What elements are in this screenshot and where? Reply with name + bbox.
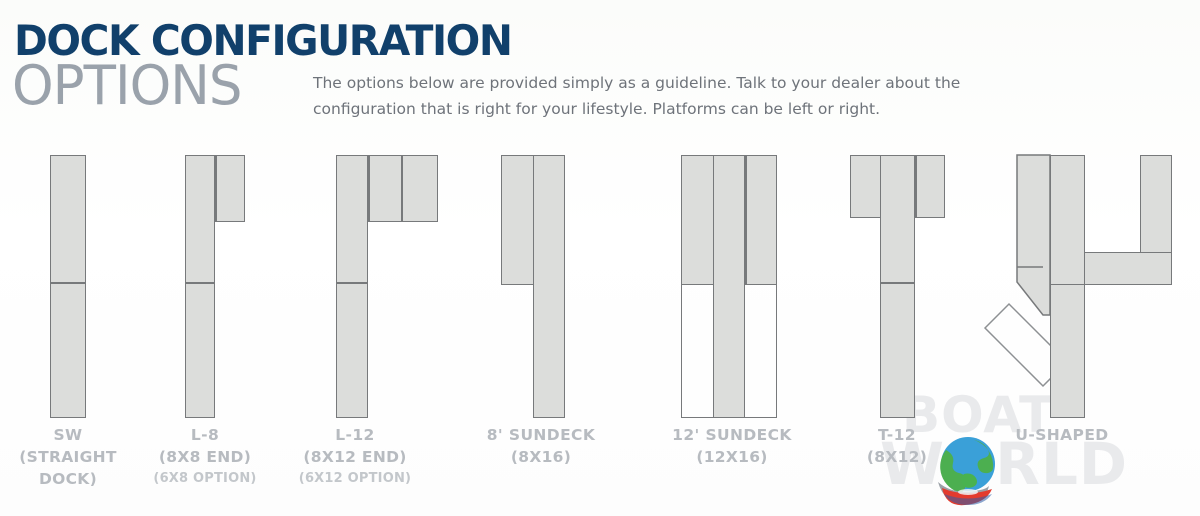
caption-l8-line-2: (8X8 END) — [137, 446, 273, 468]
intro-line-1: The options below are provided simply as… — [313, 70, 973, 96]
caption-sw-line-2: (STRAIGHT — [0, 446, 136, 468]
diagram-t12 — [830, 140, 995, 440]
l12-platform-seam-1 — [368, 155, 370, 222]
caption-l8-line-3: (6X8 OPTION) — [137, 468, 273, 489]
sw-section-seam — [50, 282, 86, 284]
l8-section-seam — [185, 282, 215, 284]
dock-diagrams — [0, 140, 1200, 440]
sundeck12-walkway — [713, 155, 745, 418]
caption-ushaped-line-1: U-SHAPED — [986, 424, 1138, 446]
caption-l12-line-2: (8X12 END) — [287, 446, 423, 468]
caption-t12-line-1: T-12 — [829, 424, 965, 446]
diagram-l12 — [295, 140, 490, 440]
l8-platform-seam — [215, 155, 217, 222]
caption-sundeck8-line-1: 8' SUNDECK — [461, 424, 621, 446]
caption-sw: SW (STRAIGHT DOCK) — [0, 424, 136, 490]
ushaped-left-arm — [1017, 155, 1050, 315]
diagram-sw — [0, 140, 140, 440]
caption-sw-line-3: DOCK) — [0, 468, 136, 490]
l12-platform-seam-2 — [401, 155, 403, 222]
diagram-captions: SW (STRAIGHT DOCK) L-8 (8X8 END) (6X8 OP… — [0, 424, 1200, 516]
caption-t12: T-12 (8X12) — [829, 424, 965, 468]
caption-sw-line-1: SW — [0, 424, 136, 446]
dock-configuration-poster: BOAT WORLD DOCK CONFIGURATION OPTIONS Th… — [0, 0, 1200, 516]
sw-walkway-upper — [50, 155, 86, 418]
page-subtitle: OPTIONS — [12, 54, 241, 117]
ushaped-walkway-upper — [1050, 155, 1085, 285]
caption-sundeck12-line-1: 12' SUNDECK — [650, 424, 814, 446]
caption-sundeck12-line-2: (12X16) — [650, 446, 814, 468]
caption-l8: L-8 (8X8 END) (6X8 OPTION) — [137, 424, 273, 489]
diagram-ushaped — [995, 140, 1200, 440]
diagram-sundeck8 — [490, 140, 650, 440]
t12-crossbar-seam-2 — [915, 155, 917, 218]
l12-walkway — [336, 155, 368, 418]
l8-walkway — [185, 155, 215, 418]
caption-t12-line-2: (8X12) — [829, 446, 965, 468]
intro-line-2: configuration that is right for your lif… — [313, 96, 973, 122]
t12-section-seam — [880, 282, 915, 284]
caption-l12-line-1: L-12 — [287, 424, 423, 446]
diagram-sundeck12 — [650, 140, 830, 440]
diagram-l8 — [140, 140, 295, 440]
l12-section-seam — [336, 282, 368, 284]
intro-paragraph: The options below are provided simply as… — [313, 70, 973, 122]
caption-ushaped: U-SHAPED — [986, 424, 1138, 446]
caption-l8-line-1: L-8 — [137, 424, 273, 446]
t12-walkway — [880, 155, 915, 418]
caption-sundeck8-line-2: (8X16) — [461, 446, 621, 468]
poster-header: DOCK CONFIGURATION OPTIONS The options b… — [0, 0, 1200, 140]
caption-l12-line-3: (6X12 OPTION) — [287, 468, 423, 489]
sundeck12-platform-seam-2 — [745, 155, 747, 285]
sundeck8-walkway — [533, 155, 565, 418]
caption-sundeck12: 12' SUNDECK (12X16) — [650, 424, 814, 468]
caption-sundeck8: 8' SUNDECK (8X16) — [461, 424, 621, 468]
caption-l12: L-12 (8X12 END) (6X12 OPTION) — [287, 424, 423, 489]
